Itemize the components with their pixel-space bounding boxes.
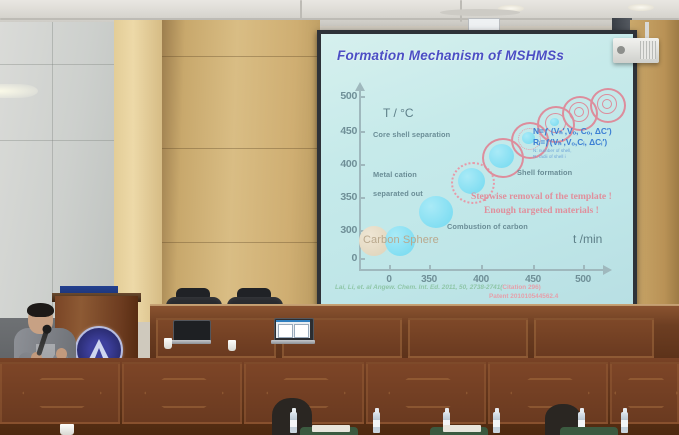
y-tick-350: 350 (323, 191, 357, 203)
citation-ref-text: Lai, Li, et. al Angew. Chem. Int. Ed. 20… (335, 284, 502, 291)
paper-cup (164, 338, 172, 349)
laptop-2[interactable] (171, 320, 211, 346)
note-carbon-sphere: Carbon Sphere (363, 234, 439, 246)
y-axis-label: T / °C (383, 106, 414, 120)
ring-hollow-inner-2 (574, 107, 584, 117)
y-tick-300: 300 (323, 224, 357, 236)
note-shell-formation: Shell formation (517, 168, 572, 177)
slide-title: Formation Mechanism of MSHMSs (337, 48, 564, 63)
note-separated-out: separated out (373, 189, 423, 198)
formula-line-1: N=ƒ (Vₕ′,Vₒ, Cₒ, ΔC′) (533, 126, 612, 136)
note-metal-cation: Metal cation (373, 170, 417, 179)
formula-legend-1: N: number of shell, (533, 148, 572, 153)
water-bottle-6 (621, 412, 628, 433)
projection-screen: Formation Mechanism of MSHMSs 500 450 40… (321, 34, 633, 306)
y-tick-400: 400 (323, 158, 357, 170)
water-bottle-2 (373, 412, 380, 433)
projector-vent (640, 41, 656, 59)
wall-pillar (114, 20, 162, 322)
water-bottle-4 (493, 412, 500, 433)
document-2 (443, 425, 481, 432)
wall-wood-panel (162, 20, 320, 322)
projector-lens-icon (617, 46, 625, 54)
formula-legend-2: R: radii of shell i (533, 154, 566, 159)
paper-cup-2 (228, 340, 236, 351)
citation-count: Citation 296) (502, 284, 540, 291)
x-axis-label: t /min (573, 232, 602, 246)
y-tick-0: 0 (323, 252, 357, 264)
wall-left-panel (0, 22, 116, 322)
wall-light (0, 84, 38, 98)
sphere-core-2 (489, 144, 514, 168)
ceiling-projector (613, 38, 659, 63)
citation-patent: Patent 201010544562.4 (489, 293, 558, 300)
citation-reference: Lai, Li, et. al Angew. Chem. Int. Ed. 20… (335, 284, 541, 291)
y-tick-450: 450 (323, 125, 357, 137)
crest-mark-icon (89, 339, 109, 359)
desk-mat-3 (560, 427, 618, 435)
formula-line-2: Rᵢ=ƒ(Vₕ′,Vₒ,Cᵢ, ΔCᵢ′) (533, 137, 607, 147)
foreground-cup (60, 424, 74, 435)
sphere-core-4 (550, 118, 559, 126)
note-core-shell-separation: Core shell separation (373, 130, 450, 139)
water-bottle-1 (290, 412, 297, 433)
wall-right-panel (630, 20, 679, 320)
speaker-hair (27, 303, 54, 317)
y-tick-500: 500 (323, 90, 357, 102)
highlight-line-1: Stepwise removal of the template ! (471, 191, 612, 202)
laptop-1[interactable] (271, 318, 315, 346)
highlight-line-2: Enough targeted materials ! (484, 205, 599, 216)
screenshot-root: Formation Mechanism of MSHMSs 500 450 40… (0, 0, 679, 435)
ring-hollow-inner-3 (602, 99, 612, 109)
note-combustion-of-carbon: Combustion of carbon (447, 222, 528, 231)
document-1 (312, 425, 350, 432)
x-tick-500: 500 (566, 274, 600, 285)
